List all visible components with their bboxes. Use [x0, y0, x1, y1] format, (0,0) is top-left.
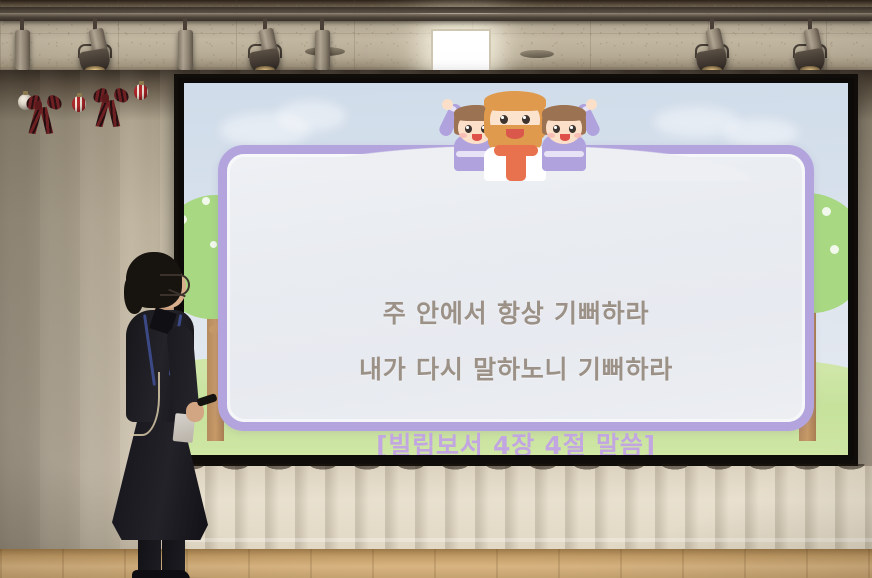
lighting-track	[0, 14, 872, 21]
stage-skirt-top-shadow	[175, 464, 872, 476]
jesus-with-children-illustration	[436, 89, 604, 171]
projection-screen: 주 안에서 항상 기뻐하라 내가 다시 말하노니 기뻐하라 [빌립보서 4장 4…	[184, 83, 848, 455]
ceiling-vent	[520, 50, 554, 58]
presenter-shoe-right	[156, 570, 190, 578]
lighting-track-upper	[0, 7, 872, 13]
slide-content-card: 주 안에서 항상 기뻐하라 내가 다시 말하노니 기뻐하라 [빌립보서 4장 4…	[218, 145, 814, 431]
jesus-scarf-collar	[494, 145, 538, 156]
jesus-mouth	[506, 129, 524, 139]
slide-title-line-2: 내가 다시 말하노니 기뻐하라	[227, 350, 805, 386]
presenter-figure	[96, 252, 216, 578]
stage-skirt-hem	[175, 538, 872, 542]
presenter-skirt	[112, 414, 208, 540]
room-scene: 주 안에서 항상 기뻐하라 내가 다시 말하노니 기뻐하라 [빌립보서 4장 4…	[0, 0, 872, 578]
slide-title-line-1: 주 안에서 항상 기뻐하라	[227, 294, 805, 330]
christmas-ornament-icon	[72, 96, 86, 112]
presenter-remote-clicker	[196, 393, 217, 407]
christmas-ornament-icon	[134, 84, 148, 100]
presenter-hair-side	[124, 274, 144, 314]
slide-scripture-reference: [빌립보서 4장 4절 말씀]	[227, 426, 805, 455]
cloud-icon	[276, 101, 346, 131]
